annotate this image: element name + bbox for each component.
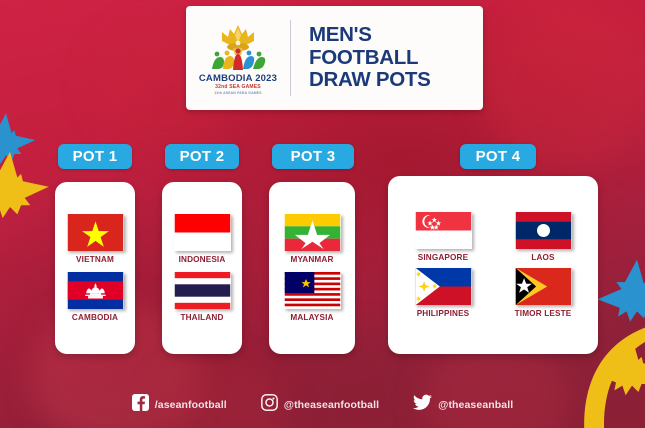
team-entry: MYANMAR bbox=[284, 214, 341, 264]
star-decoration-yellow-left-icon bbox=[0, 150, 60, 242]
team-column: VIETNAM bbox=[67, 192, 124, 344]
timor-leste-flag-icon bbox=[515, 268, 572, 305]
team-grid: SINGAPORE LAOS bbox=[388, 212, 598, 318]
team-name: TIMOR LESTE bbox=[515, 309, 572, 318]
pot-card-1: VIETNAM bbox=[55, 182, 135, 354]
star-decoration-blue-left-icon bbox=[0, 112, 46, 182]
team-entry: VIETNAM bbox=[67, 214, 124, 264]
sea-games-emblem-icon bbox=[202, 23, 274, 73]
team-name: CAMBODIA bbox=[72, 313, 118, 322]
team-name: PHILIPPINES bbox=[417, 309, 470, 318]
instagram-handle[interactable]: @theaseanfootball bbox=[284, 399, 379, 411]
pot-label-1: POT 1 bbox=[58, 144, 132, 169]
malaysia-flag-icon bbox=[284, 272, 341, 309]
page-title-line-1: MEN'S FOOTBALL bbox=[309, 24, 483, 70]
star-decoration-blue-right-icon bbox=[591, 258, 645, 344]
social-instagram[interactable]: @theaseanfootball bbox=[261, 394, 379, 416]
team-entry: THAILAND bbox=[174, 272, 231, 322]
team-entry: LAOS bbox=[515, 212, 572, 262]
logo-subtitle-para-games: 12th ASEAN PARA GAMES bbox=[199, 91, 277, 96]
team-name: VIETNAM bbox=[76, 255, 114, 264]
logo-subtitle-games: 32nd SEA GAMES bbox=[199, 84, 277, 92]
team-column: INDONESIA THAILAND bbox=[174, 192, 231, 344]
team-entry: INDONESIA bbox=[174, 214, 231, 264]
team-entry: SINGAPORE bbox=[415, 212, 472, 262]
social-facebook[interactable]: /aseanfootball bbox=[132, 394, 227, 416]
pot-card-2: INDONESIA THAILAND bbox=[162, 182, 242, 354]
team-entry: TIMOR LESTE bbox=[515, 268, 572, 318]
team-name: THAILAND bbox=[180, 313, 223, 322]
poster-canvas: CAMBODIA 2023 32nd SEA GAMES 12th ASEAN … bbox=[0, 0, 645, 428]
footer-social-bar: /aseanfootball @theaseanfootball @thease… bbox=[0, 394, 645, 416]
team-column: MYANMAR bbox=[284, 192, 341, 344]
indonesia-flag-icon bbox=[174, 214, 231, 251]
page-title: MEN'S FOOTBALL DRAW POTS bbox=[291, 24, 483, 93]
philippines-flag-icon bbox=[415, 268, 472, 305]
twitter-handle[interactable]: @theaseanball bbox=[438, 399, 513, 411]
pot-card-3: MYANMAR bbox=[269, 182, 355, 354]
cambodia-2023-sea-games-logo: CAMBODIA 2023 32nd SEA GAMES 12th ASEAN … bbox=[186, 6, 290, 110]
twitter-icon[interactable] bbox=[413, 394, 432, 416]
thailand-flag-icon bbox=[174, 272, 231, 309]
pot-label-2: POT 2 bbox=[165, 144, 239, 169]
team-name: LAOS bbox=[531, 253, 554, 262]
team-entry: CAMBODIA bbox=[67, 272, 124, 322]
team-entry: MALAYSIA bbox=[284, 272, 341, 322]
team-name: INDONESIA bbox=[179, 255, 226, 264]
facebook-icon[interactable] bbox=[132, 394, 149, 416]
facebook-handle[interactable]: /aseanfootball bbox=[155, 399, 227, 411]
team-name: SINGAPORE bbox=[418, 253, 468, 262]
team-entry: PHILIPPINES bbox=[415, 268, 472, 318]
page-title-line-2: DRAW POTS bbox=[309, 69, 483, 92]
instagram-icon[interactable] bbox=[261, 394, 278, 416]
pot-card-4: SINGAPORE LAOS bbox=[388, 176, 598, 354]
singapore-flag-icon bbox=[415, 212, 472, 249]
social-twitter[interactable]: @theaseanball bbox=[413, 394, 513, 416]
team-name: MYANMAR bbox=[290, 255, 333, 264]
pot-label-3: POT 3 bbox=[272, 144, 354, 169]
header-card: CAMBODIA 2023 32nd SEA GAMES 12th ASEAN … bbox=[186, 6, 483, 110]
cambodia-flag-icon bbox=[67, 272, 124, 309]
myanmar-flag-icon bbox=[284, 214, 341, 251]
pot-label-4: POT 4 bbox=[460, 144, 536, 169]
vietnam-flag-icon bbox=[67, 214, 124, 251]
team-name: MALAYSIA bbox=[290, 313, 333, 322]
laos-flag-icon bbox=[515, 212, 572, 249]
logo-title: CAMBODIA 2023 bbox=[199, 74, 277, 84]
